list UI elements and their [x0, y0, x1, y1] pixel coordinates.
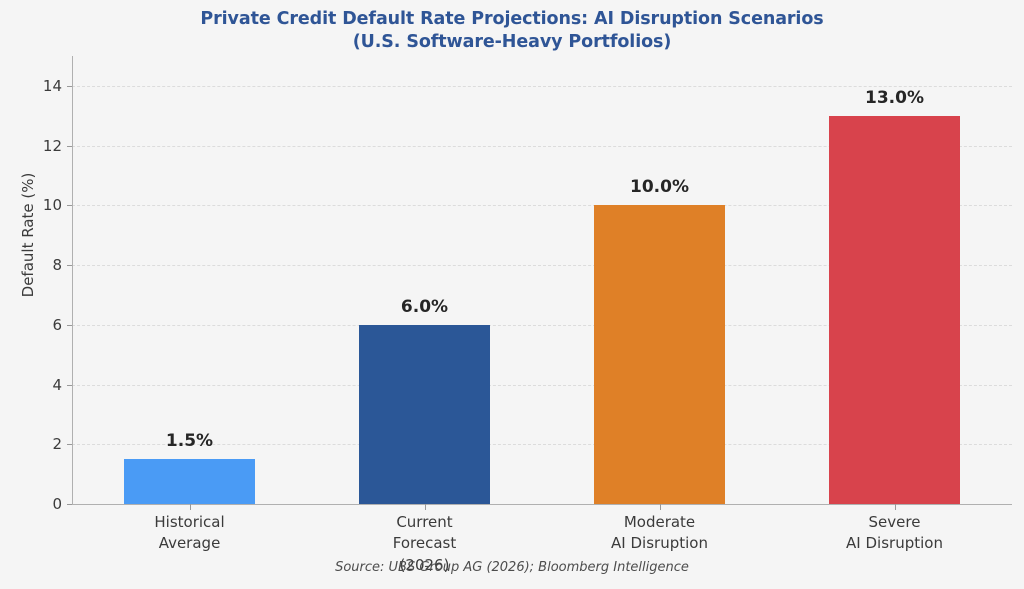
y-tick-label: 8 [4, 256, 62, 274]
y-tick-label: 14 [4, 77, 62, 95]
x-axis-spine [72, 504, 1012, 505]
bar[interactable] [359, 325, 491, 504]
x-tick-label: Severe AI Disruption [846, 512, 943, 555]
x-tick-mark [895, 504, 896, 510]
x-tick-label: Historical Average [154, 512, 224, 555]
bar-value-label: 6.0% [401, 297, 448, 317]
x-tick-mark [660, 504, 661, 510]
bar-value-label: 13.0% [865, 88, 924, 108]
chart-title-line-2: (U.S. Software-Heavy Portfolios) [0, 31, 1024, 54]
bar-value-label: 1.5% [166, 431, 213, 451]
y-tick-label: 6 [4, 316, 62, 334]
y-tick-label: 4 [4, 376, 62, 394]
gridline [72, 86, 1012, 87]
y-axis-spine [72, 56, 73, 504]
y-tick-label: 10 [4, 196, 62, 214]
bar[interactable] [829, 116, 961, 504]
x-tick-label: Moderate AI Disruption [611, 512, 708, 555]
x-tick-mark [425, 504, 426, 510]
y-tick-label: 2 [4, 435, 62, 453]
bar-value-label: 10.0% [630, 177, 689, 197]
bar[interactable] [124, 459, 256, 504]
y-tick-label: 12 [4, 137, 62, 155]
x-tick-mark [190, 504, 191, 510]
chart-title-line-1: Private Credit Default Rate Projections:… [200, 9, 823, 29]
chart-figure: Private Credit Default Rate Projections:… [0, 0, 1024, 589]
chart-title: Private Credit Default Rate Projections:… [0, 8, 1024, 54]
y-tick-label: 0 [4, 495, 62, 513]
bar[interactable] [594, 205, 726, 504]
source-note: Source: UBS Group AG (2026); Bloomberg I… [0, 560, 1024, 575]
